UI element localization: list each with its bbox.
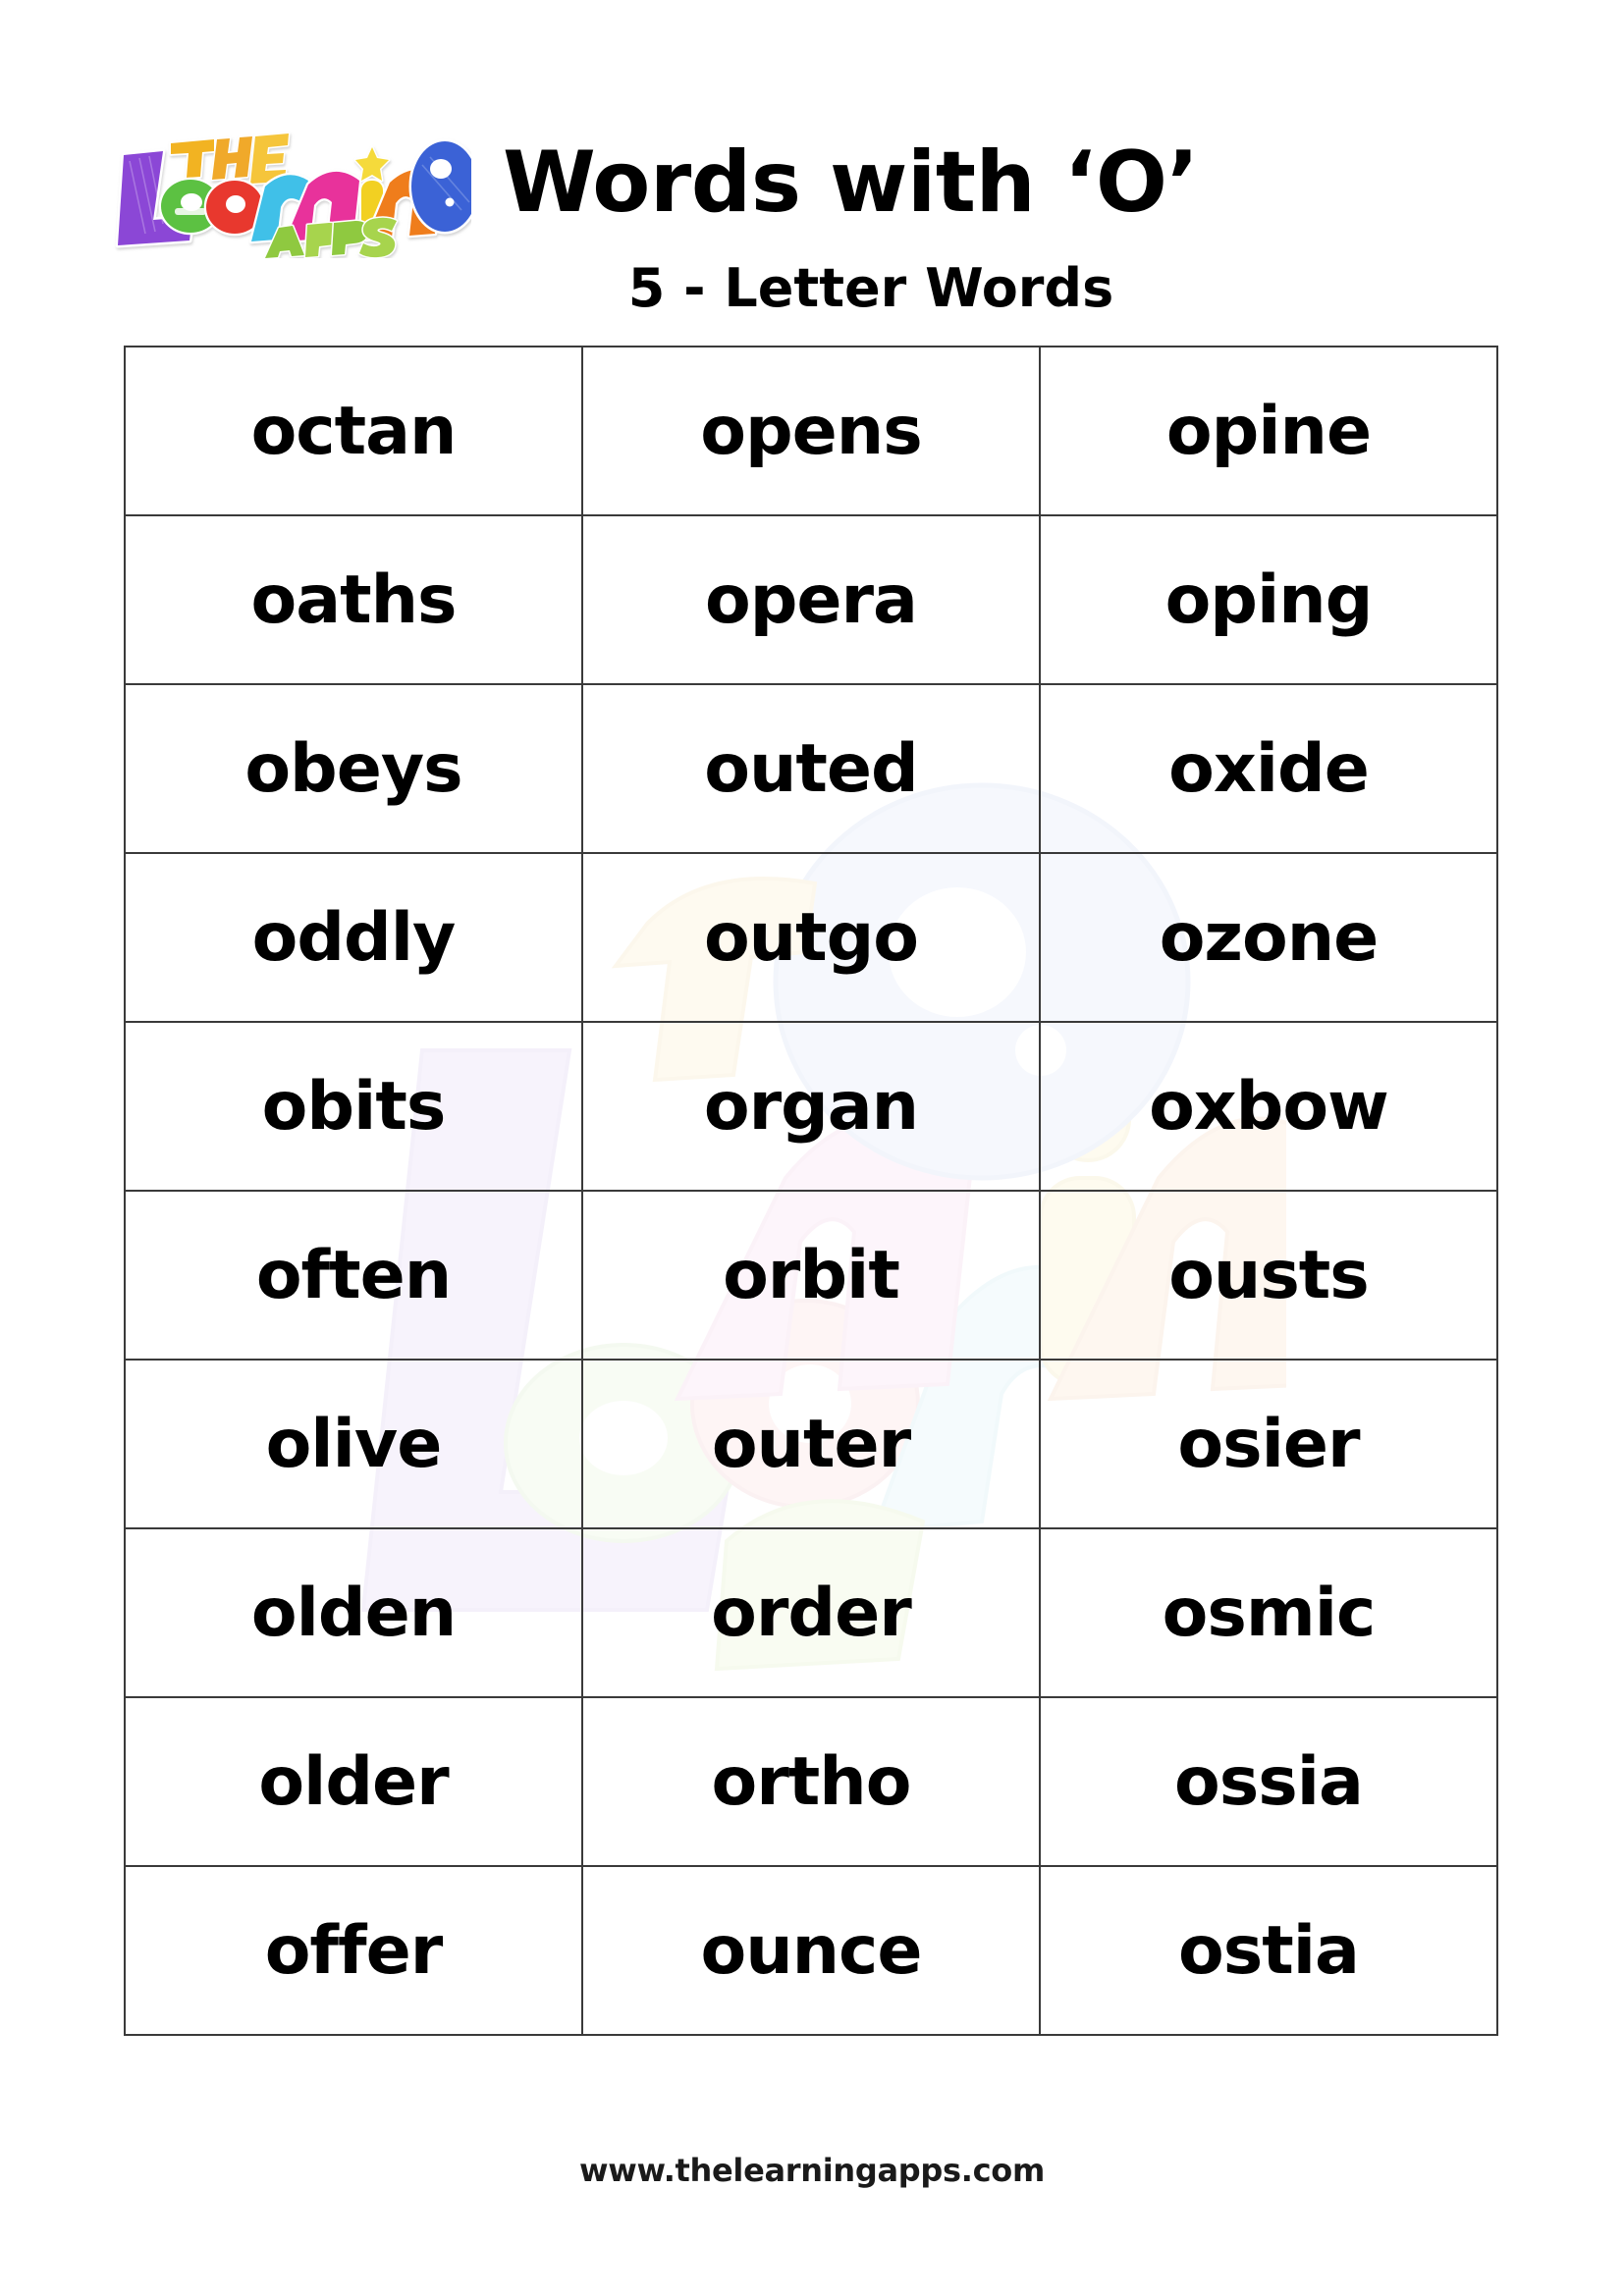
word-cell: octan (125, 347, 582, 515)
table-row: obeysoutedoxide (125, 684, 1497, 853)
word-cell: opens (582, 347, 1040, 515)
word-cell: ounce (582, 1866, 1040, 2035)
footer-url: www.thelearningapps.com (0, 2152, 1624, 2189)
table-row: oliveouterosier (125, 1360, 1497, 1528)
table-row: obitsorganoxbow (125, 1022, 1497, 1191)
word-cell: obits (125, 1022, 582, 1191)
word-cell: often (125, 1191, 582, 1360)
word-cell: older (125, 1697, 582, 1866)
worksheet-header: Words with ‘O’ 5 - Letter Words (0, 0, 1624, 346)
table-row: oftenorbitousts (125, 1191, 1497, 1360)
word-cell: outer (582, 1360, 1040, 1528)
word-cell: ossia (1040, 1697, 1497, 1866)
word-cell: outed (582, 684, 1040, 853)
word-cell: oping (1040, 515, 1497, 684)
word-cell: outgo (582, 853, 1040, 1022)
table-row: oathsoperaoping (125, 515, 1497, 684)
word-cell: ostia (1040, 1866, 1497, 2035)
table-row: oddlyoutgoozone (125, 853, 1497, 1022)
page-subtitle: 5 - Letter Words (0, 257, 1624, 319)
table-row: octanopensopine (125, 347, 1497, 515)
word-cell: opine (1040, 347, 1497, 515)
table-row: offerounceostia (125, 1866, 1497, 2035)
word-cell: ozone (1040, 853, 1497, 1022)
word-cell: offer (125, 1866, 582, 2035)
word-cell: osier (1040, 1360, 1497, 1528)
word-cell: obeys (125, 684, 582, 853)
table-row: olderorthoossia (125, 1697, 1497, 1866)
page-title: Words with ‘O’ (503, 133, 1199, 232)
word-cell: oxide (1040, 684, 1497, 853)
word-cell: olden (125, 1528, 582, 1697)
word-cell: olive (125, 1360, 582, 1528)
word-cell: orbit (582, 1191, 1040, 1360)
word-cell: ousts (1040, 1191, 1497, 1360)
word-cell: oxbow (1040, 1022, 1497, 1191)
word-cell: order (582, 1528, 1040, 1697)
word-cell: oddly (125, 853, 582, 1022)
word-cell: organ (582, 1022, 1040, 1191)
word-cell: ortho (582, 1697, 1040, 1866)
table-row: oldenorderosmic (125, 1528, 1497, 1697)
word-cell: osmic (1040, 1528, 1497, 1697)
word-table-body: octanopensopineoathsoperaopingobeysouted… (125, 347, 1497, 2035)
word-cell: oaths (125, 515, 582, 684)
the-learning-apps-logo (106, 126, 471, 258)
word-cell: opera (582, 515, 1040, 684)
worksheet-page: Words with ‘O’ 5 - Letter Words octanope… (0, 0, 1624, 2296)
word-table: octanopensopineoathsoperaopingobeysouted… (124, 346, 1498, 2036)
